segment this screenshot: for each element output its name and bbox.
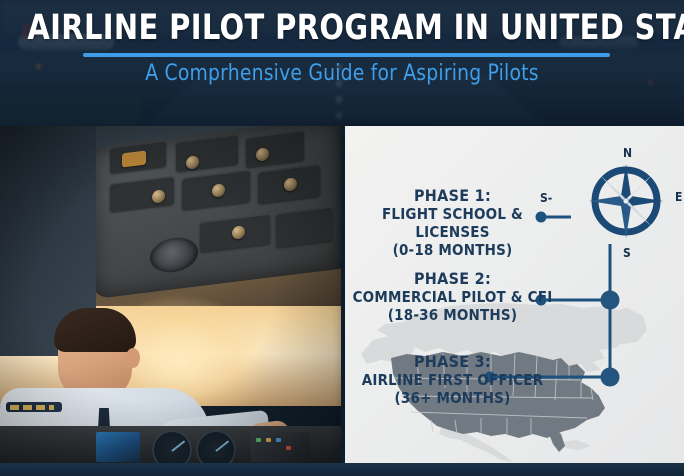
phase-1-title: FLIGHT SCHOOL & LICENSES bbox=[345, 205, 560, 241]
phase-item-3: PHASE 3: AIRLINE FIRST OFFICER (36+ MONT… bbox=[345, 352, 560, 407]
phase-2-title: COMMERCIAL PILOT & CFI bbox=[345, 288, 560, 306]
connector-node-phase2 bbox=[601, 291, 620, 310]
phase-list: PHASE 1: FLIGHT SCHOOL & LICENSES (0-18 … bbox=[345, 126, 560, 463]
phase-2-heading: PHASE 2: bbox=[345, 269, 560, 288]
infographic-poster: AIRLINE PILOT PROGRAM IN UNITED STATES A… bbox=[0, 0, 684, 476]
phase-2-duration: (18-36 MONTHS) bbox=[345, 306, 560, 324]
page-subtitle: A Comprhensive Guide for Aspiring Pilots bbox=[17, 59, 667, 89]
connector-node-phase3 bbox=[601, 368, 620, 387]
phase-3-heading: PHASE 3: bbox=[345, 352, 560, 371]
title-accent-bar bbox=[83, 53, 610, 57]
phase-item-1: PHASE 1: FLIGHT SCHOOL & LICENSES (0-18 … bbox=[345, 186, 560, 259]
roadmap-panel: N S- E S PHASE 1: bbox=[345, 126, 684, 463]
phase-3-title: AIRLINE FIRST OFFICER bbox=[345, 371, 560, 389]
phase-3-duration: (36+ MONTHS) bbox=[345, 389, 560, 407]
header-banner: AIRLINE PILOT PROGRAM IN UNITED STATES A… bbox=[0, 0, 684, 126]
phase-item-2: PHASE 2: COMMERCIAL PILOT & CFI (18-36 M… bbox=[345, 269, 560, 324]
phase-1-heading: PHASE 1: bbox=[345, 186, 560, 205]
page-title: AIRLINE PILOT PROGRAM IN UNITED STATES bbox=[27, 9, 656, 47]
footer-bar bbox=[0, 463, 684, 476]
cockpit-pilot-photo bbox=[0, 126, 341, 463]
phase-1-duration: (0-18 MONTHS) bbox=[345, 241, 560, 259]
photo-vignette bbox=[0, 126, 341, 463]
